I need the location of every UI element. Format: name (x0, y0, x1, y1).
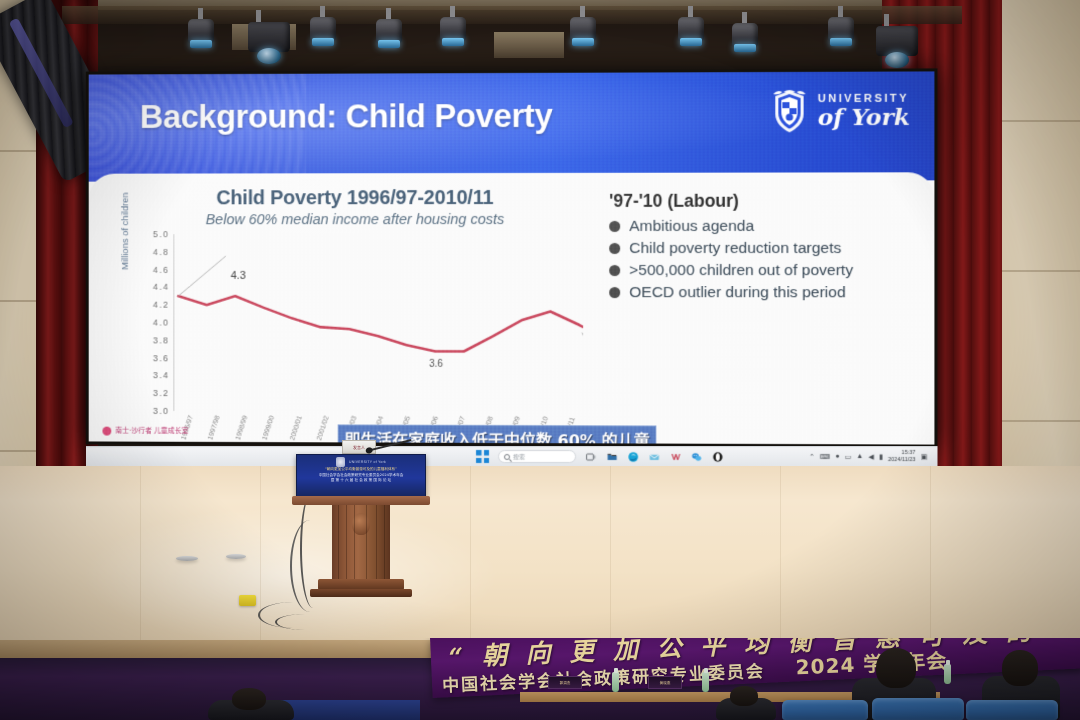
wechat-icon[interactable] (691, 450, 703, 462)
annotation-leader-line (178, 256, 226, 296)
y-tick-label: 3.4 (153, 371, 169, 381)
podium-signboard: UNIVERSITY of York “朝向更加公平均衡普惠可及的儿童福利体系”… (296, 454, 426, 498)
poverty-trend-line (174, 234, 583, 412)
mail-icon[interactable] (648, 450, 660, 462)
bullet-item: Child poverty reduction targets (609, 238, 916, 260)
y-axis-ticks: 5.04.84.64.44.24.03.83.63.43.23.0 (136, 234, 170, 411)
y-tick-label: 5.0 (153, 229, 169, 239)
stage-spotlight (730, 12, 760, 56)
floor-cable-tape (239, 595, 256, 606)
conference-hall-photo: Background: Child Poverty UN (0, 0, 1080, 720)
stage-spotlight (438, 6, 468, 50)
stage-spotlight (826, 6, 856, 50)
poverty-line-path (178, 296, 583, 359)
bullet-item: OECD outlier during this period (609, 282, 916, 304)
chart-plot-wrapper: Millions of children 5.04.84.64.44.24.03… (122, 234, 589, 430)
speaker-podium: 发言人 UNIVERSITY of York “朝向更加公平均衡普惠可及的儿童福… (296, 440, 426, 612)
presentation-slide: Background: Child Poverty UN (89, 71, 935, 444)
banner-year-line: 2024 学术年会 (795, 645, 948, 681)
floor-marker-disc (226, 554, 246, 559)
seated-person-head (876, 648, 916, 688)
podium-crest-icon (336, 457, 345, 467)
clock-time: 15:37 (902, 450, 916, 456)
bullets-heading: '97-'10 (Labour) (609, 190, 916, 211)
taskbar-center-group: 搜索 (476, 450, 724, 463)
stage-spotlight (374, 8, 404, 52)
placard-label: 郭涓杰 (549, 677, 581, 690)
podium-crest-text: UNIVERSITY of York (349, 460, 386, 464)
x-tick-label: 2000/01 (289, 415, 303, 441)
bullet-label: Child poverty reduction targets (629, 238, 841, 260)
network-icon[interactable]: ▲ (856, 453, 863, 460)
chart-point-label-end: 3.6 (429, 359, 443, 370)
slide-content-area: Child Poverty 1996/97-2010/11 Below 60% … (89, 172, 935, 444)
bullet-list: Ambitious agendaChild poverty reduction … (609, 216, 916, 305)
x-tick-label: 2001/02 (316, 415, 330, 441)
y-tick-label: 4.8 (153, 247, 169, 257)
chart-title: Child Poverty 1996/97-2010/11 (122, 187, 589, 210)
stage-spotlight (308, 6, 338, 50)
name-placard: 黄晓燕 (648, 676, 682, 689)
york-logo-text: UNIVERSITY of York (818, 93, 910, 129)
annotation-leader-line (582, 333, 583, 359)
presentation-watermark: 南士·沙行者 儿童成长室 (102, 426, 188, 436)
y-tick-label: 4.2 (153, 300, 169, 310)
york-logo-line2: of York (818, 105, 910, 128)
podium-sign-line3: 暨 第 十 六 届 社 会 政 策 国 际 论 坛 (297, 478, 425, 484)
windows-taskbar[interactable]: 搜索 ⌃ ⌨ ● ▭ ▲ ◀ ▮ 15:37 2024/11/23 ▣ (86, 446, 938, 466)
name-placard: 郭涓杰 (548, 676, 582, 689)
clock-date: 2024/11/23 (888, 457, 916, 463)
battery-icon[interactable]: ▮ (879, 452, 883, 460)
bullet-item: >500,000 children out of poverty (609, 260, 916, 282)
bullet-dot-icon (609, 265, 620, 276)
taskbar-clock[interactable]: 15:37 2024/11/23 (888, 450, 916, 463)
watermark-text: 南士·沙行者 儿童成长室 (115, 426, 188, 436)
bullet-item: Ambitious agenda (609, 216, 916, 238)
seated-person-head (730, 686, 758, 706)
podium-base-lower (310, 589, 412, 597)
file-explorer-icon[interactable] (606, 450, 618, 462)
water-bottle (612, 672, 619, 692)
keyboard-layout-icon[interactable]: ⌨ (820, 452, 830, 460)
chart-subtitle: Below 60% median income after housing co… (122, 212, 589, 228)
university-of-york-logo: UNIVERSITY of York (769, 88, 910, 135)
y-tick-label: 3.6 (153, 353, 169, 363)
y-tick-label: 4.0 (153, 318, 169, 328)
notification-bell-icon[interactable]: ▣ (921, 452, 928, 460)
opera-icon[interactable] (712, 450, 724, 462)
floor-marker-disc (176, 556, 198, 561)
task-view-icon[interactable] (585, 450, 597, 462)
placard-label: 黄晓燕 (649, 677, 681, 690)
microphone-icon (370, 439, 411, 451)
plot-area (173, 234, 583, 412)
stage-spotlight (186, 8, 216, 52)
audio-cable (275, 614, 335, 630)
podium-top-ledge (292, 496, 430, 505)
labour-era-bullets: '97-'10 (Labour) Ambitious agendaChild p… (609, 190, 916, 304)
auditorium-seat (966, 700, 1058, 720)
x-tick-label: 1997/98 (207, 415, 221, 441)
water-bottle (944, 664, 951, 684)
stage-spotlight (676, 6, 706, 50)
wps-office-icon[interactable] (670, 450, 682, 462)
seated-person-head (232, 688, 266, 710)
auditorium-seat (782, 700, 868, 720)
wall-panel (494, 32, 564, 58)
y-tick-label: 4.4 (153, 282, 169, 292)
x-tick-label: 1998/99 (235, 415, 249, 441)
led-projection-screen: Background: Child Poverty UN (86, 68, 938, 447)
search-input[interactable]: 搜索 (498, 450, 576, 463)
x-tick-label: 1999/00 (262, 415, 276, 441)
volume-icon[interactable]: ◀ (868, 452, 873, 460)
y-tick-label: 3.2 (153, 388, 169, 398)
bullet-label: Ambitious agenda (629, 216, 754, 238)
bullet-dot-icon (609, 287, 620, 298)
stage-spotlight (568, 6, 598, 50)
bullet-label: OECD outlier during this period (629, 282, 845, 304)
bullet-dot-icon (609, 243, 620, 254)
york-crest-icon (769, 88, 809, 134)
podium-column (332, 505, 390, 579)
show-hidden-icons-chevron[interactable]: ⌃ (809, 452, 815, 460)
chart-point-label-start: 4.3 (231, 270, 246, 282)
bullet-dot-icon (609, 221, 620, 232)
podium-crest-row: UNIVERSITY of York (297, 457, 425, 467)
seated-person-head (1002, 650, 1038, 686)
windows-start-icon[interactable] (476, 450, 489, 463)
microphone-icon[interactable]: ● (835, 453, 839, 460)
watermark-bubble-icon (102, 426, 111, 435)
search-icon (504, 453, 510, 459)
stage-spotlight-large (244, 10, 294, 66)
bullet-label: >500,000 children out of poverty (629, 260, 853, 282)
child-poverty-chart: Child Poverty 1996/97-2010/11 Below 60% … (122, 187, 589, 430)
taskbar-system-tray: ⌃ ⌨ ● ▭ ▲ ◀ ▮ 15:37 2024/11/23 ▣ (809, 450, 927, 463)
slide-header-band: Background: Child Poverty UN (89, 71, 935, 181)
stage-spotlight-large (872, 14, 922, 70)
display-icon[interactable]: ▭ (845, 452, 852, 460)
y-tick-label: 3.0 (153, 406, 169, 416)
y-axis-label: Millions of children (120, 192, 131, 270)
y-tick-label: 3.8 (153, 335, 169, 345)
y-tick-label: 4.6 (153, 265, 169, 275)
stage-floor (0, 466, 1080, 656)
slide-title: Background: Child Poverty (140, 97, 553, 136)
water-bottle (702, 672, 709, 692)
edge-browser-icon[interactable] (627, 450, 639, 462)
auditorium-seat (872, 698, 964, 720)
search-placeholder: 搜索 (513, 452, 525, 461)
